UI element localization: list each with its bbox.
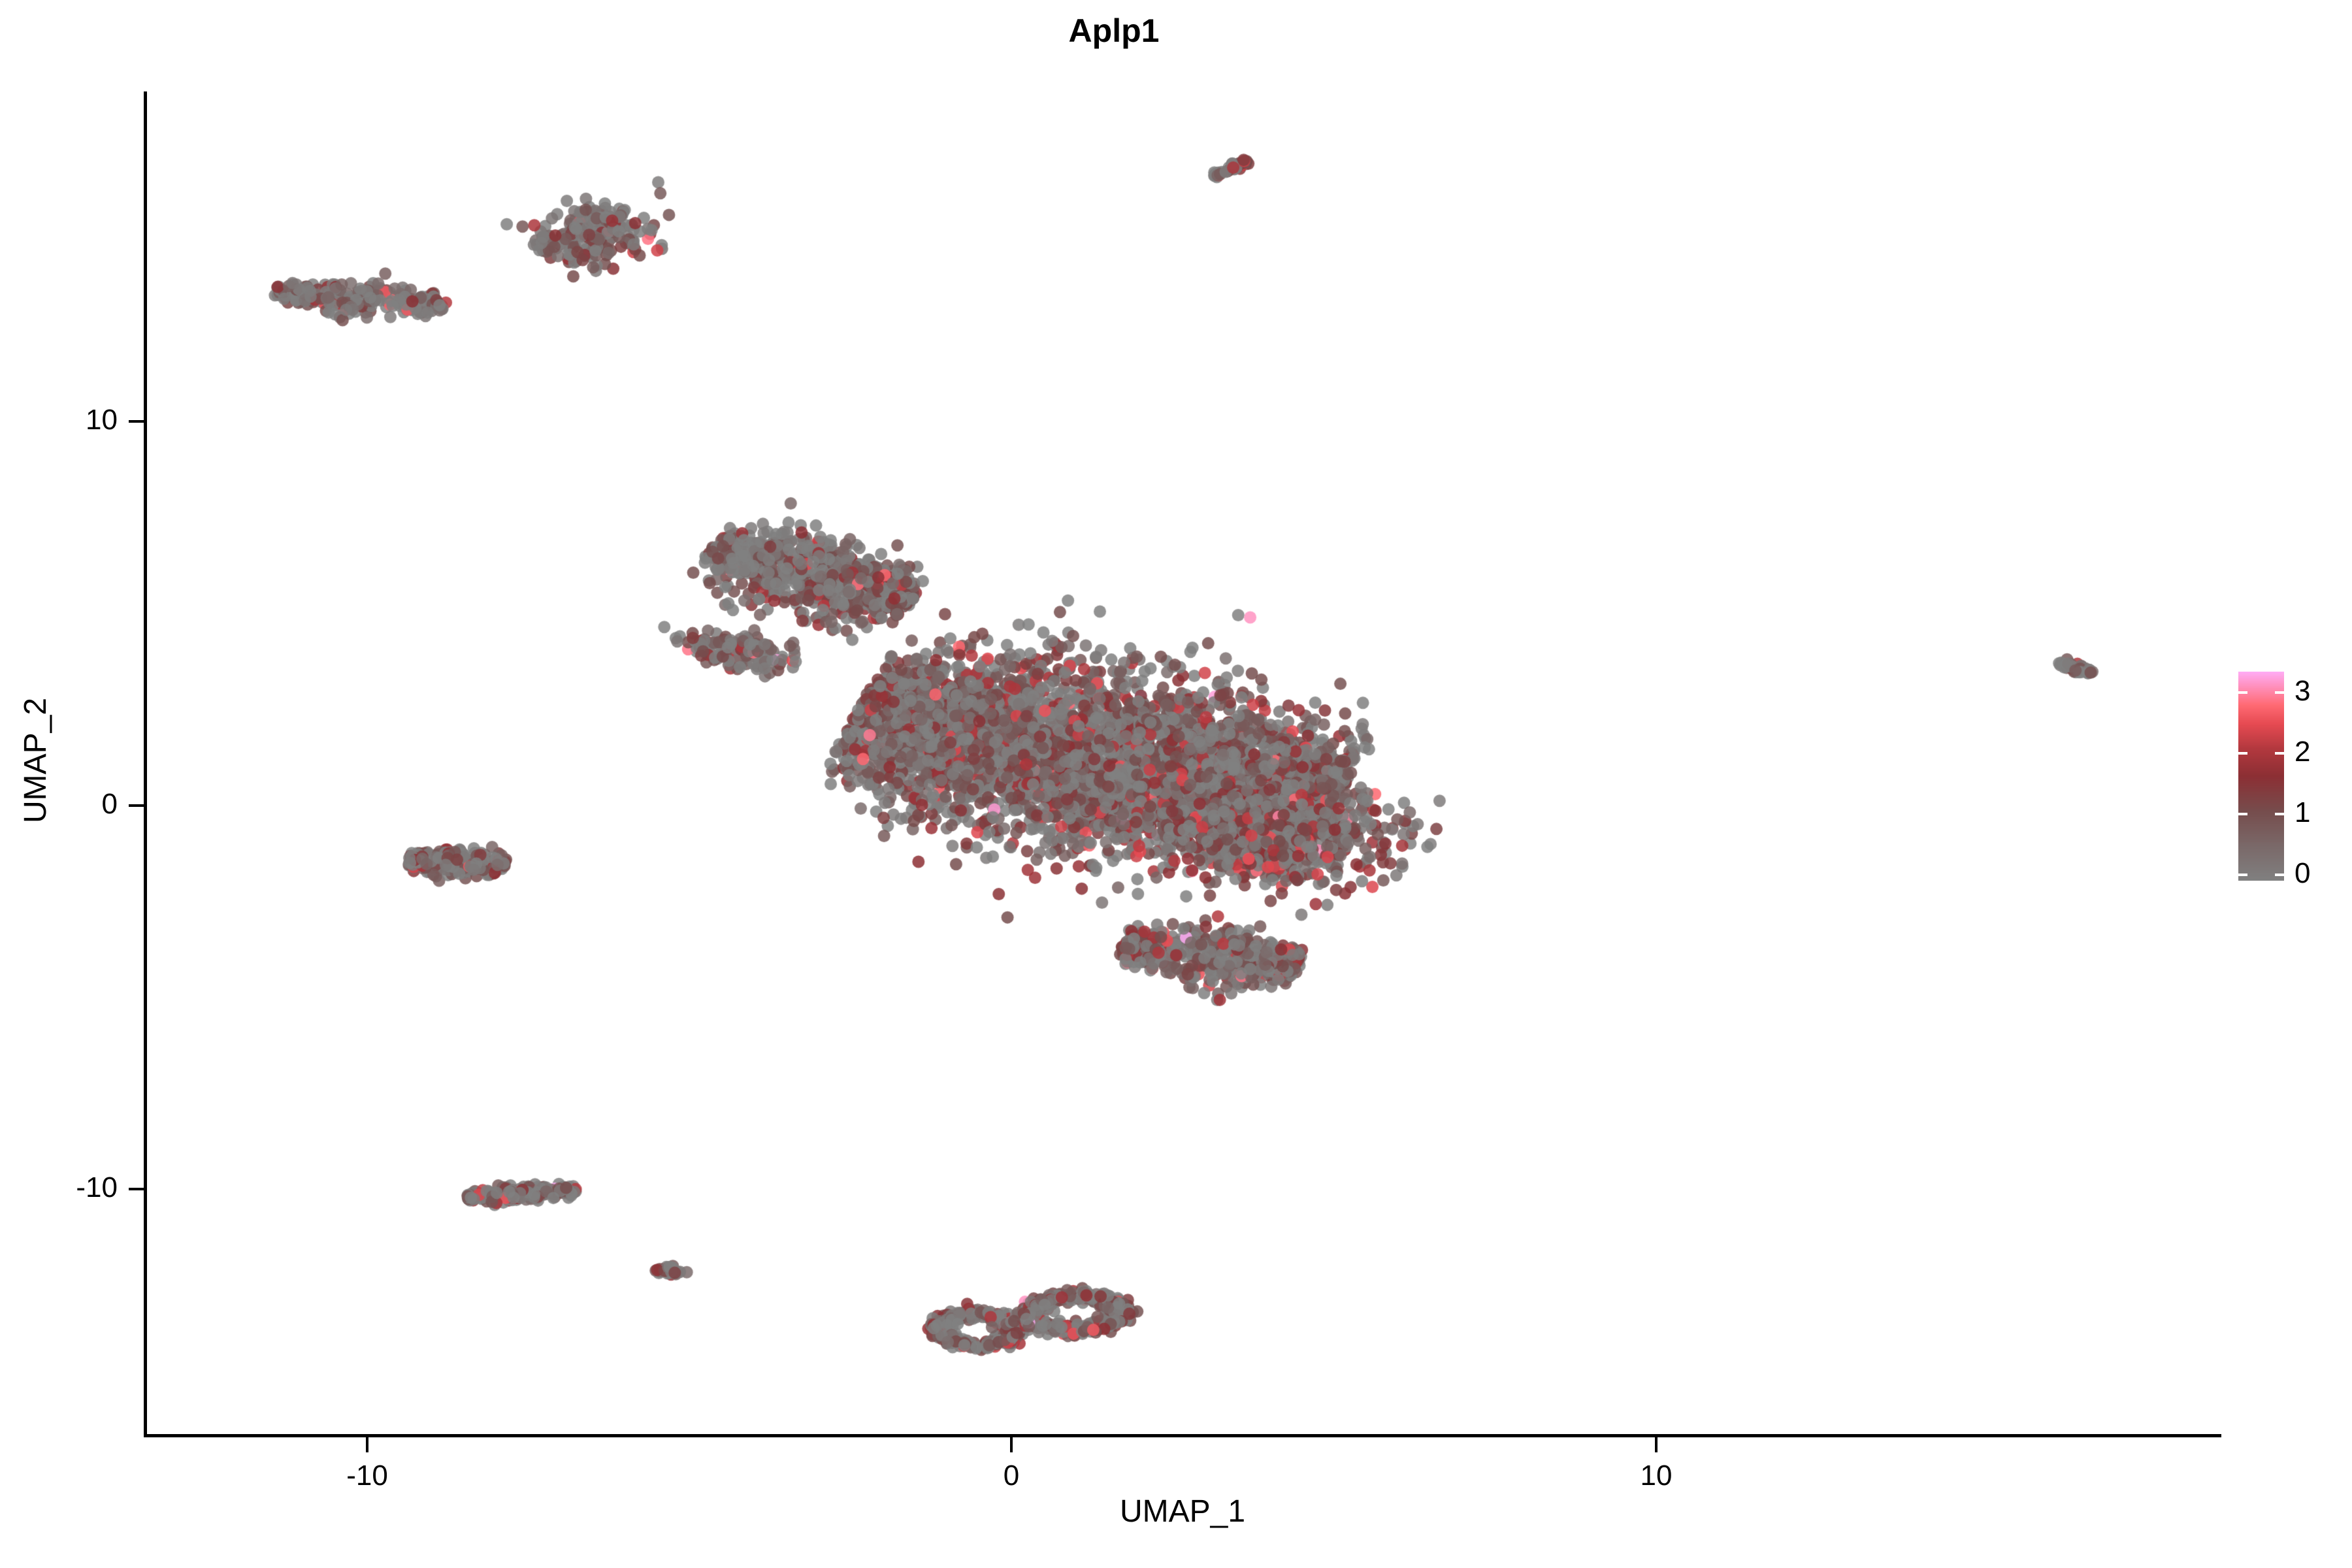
- x-axis-title: UMAP_1: [144, 1496, 2221, 1527]
- y-tick-label-neg10: -10: [0, 1173, 118, 1202]
- colorbar-gradient: [2238, 672, 2284, 881]
- colorbar-legend: 3 2 1 0: [2238, 672, 2343, 887]
- colorbar-label-1: 1: [2295, 798, 2310, 827]
- umap-feature-plot: Aplp1 10 0 -10 -10 0 10 UMAP_1 UMAP_2 3 …: [0, 0, 2352, 1568]
- x-axis-line: [144, 1434, 2221, 1437]
- y-tick-mark-10: [129, 420, 144, 423]
- colorbar-label-2: 2: [2295, 738, 2310, 766]
- page-title: Aplp1: [0, 14, 2228, 47]
- x-tick-mark-neg10: [366, 1437, 368, 1452]
- x-tick-mark-0: [1010, 1437, 1013, 1452]
- x-tick-label-0: 0: [946, 1462, 1077, 1490]
- y-tick-mark-neg10: [129, 1188, 144, 1190]
- x-tick-label-10: 10: [1591, 1462, 1722, 1490]
- x-tick-mark-10: [1655, 1437, 1658, 1452]
- scatter-plot-canvas: [145, 91, 2223, 1436]
- y-axis-title: UMAP_2: [20, 564, 52, 956]
- y-tick-label-10: 10: [0, 406, 118, 434]
- y-tick-label-0: 0: [0, 790, 118, 819]
- x-tick-label-neg10: -10: [302, 1462, 433, 1490]
- colorbar-label-3: 3: [2295, 677, 2310, 706]
- y-axis-line: [144, 91, 147, 1437]
- colorbar-label-0: 0: [2295, 859, 2310, 888]
- y-tick-mark-0: [129, 804, 144, 807]
